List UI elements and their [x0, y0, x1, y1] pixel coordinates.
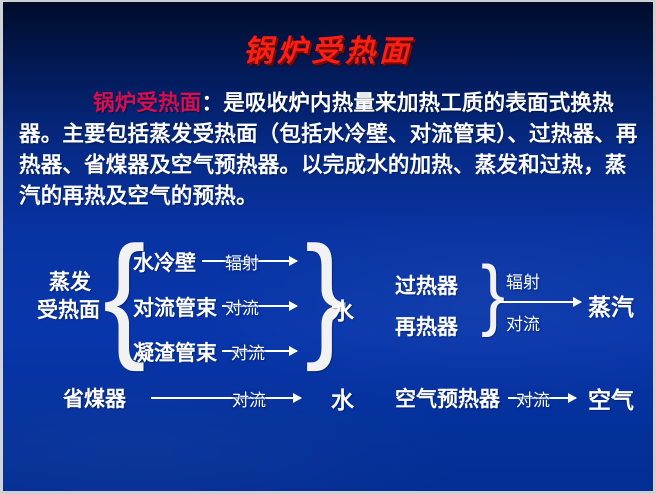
heating-surface-diagram: 蒸发 受热面 { 水冷壁 辐射 对流管束 对流 凝渣管束 对流 } 水 过热器 … — [3, 238, 656, 438]
air-preheater-source-label: 空气预热器 — [395, 383, 500, 413]
superheat-item-1-label: 再热器 — [395, 311, 458, 341]
evaporation-item-2-label: 凝渣管束 — [133, 337, 217, 367]
evaporation-item-1-mode: 对流 — [225, 294, 259, 319]
slide-canvas: 锅炉受热面 锅炉受热面：是吸收炉内热量来加热工质的表面式换热器。主要包括蒸发受热… — [0, 0, 656, 494]
slide-title: 锅炉受热面 — [3, 26, 653, 70]
superheat-brace: } — [481, 254, 505, 333]
evaporation-item-0-mode: 辐射 — [225, 249, 259, 274]
economizer-arrow — [151, 397, 301, 399]
economizer-mode: 对流 — [232, 386, 266, 411]
paragraph-lead-term: 锅炉受热面 — [93, 91, 202, 115]
superheat-mode-bottom: 对流 — [506, 310, 540, 335]
economizer-output-water: 水 — [331, 381, 354, 415]
evaporation-item-0-label: 水冷壁 — [133, 247, 196, 277]
evaporation-item-2-mode: 对流 — [231, 339, 265, 364]
superheat-item-0-label: 过热器 — [395, 270, 458, 300]
superheat-output-steam: 蒸汽 — [588, 288, 634, 322]
evaporation-item-1-label: 对流管束 — [133, 292, 217, 322]
evaporation-label-line2: 受热面 — [37, 294, 100, 324]
superheat-mode-top: 辐射 — [506, 268, 540, 293]
air-preheater-output-air: 空气 — [588, 381, 634, 415]
evaporation-label-line1: 蒸发 — [49, 266, 91, 296]
body-paragraph: 锅炉受热面：是吸收炉内热量来加热工质的表面式换热器。主要包括蒸发受热面（包括水冷… — [19, 88, 643, 212]
air-preheater-mode: 对流 — [516, 386, 550, 411]
evaporation-output-water: 水 — [331, 292, 354, 326]
superheat-arrow — [499, 301, 581, 303]
economizer-source-label: 省煤器 — [63, 383, 126, 413]
